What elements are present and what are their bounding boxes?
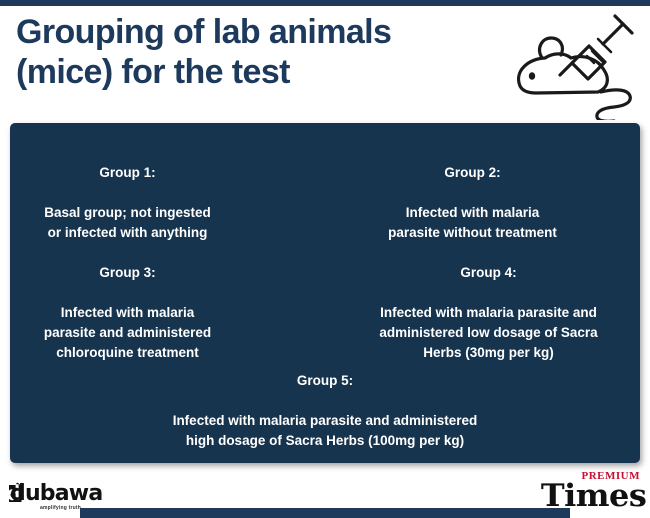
group-4-label: Group 4: (355, 263, 622, 283)
group-5-description: Infected with malaria parasite and admin… (129, 411, 521, 451)
groups-row-2: Group 3: Infected with malaria parasite … (10, 243, 640, 351)
premium-times-logo: PREMIUM Times (534, 468, 646, 514)
group-2-label: Group 2: (365, 163, 580, 183)
group-1-label: Group 1: (20, 163, 235, 183)
group-5-label: Group 5: (129, 371, 521, 391)
dubawa-tagline: amplifying truth (40, 505, 81, 511)
dubawa-logo: dubawa amplifying truth (4, 481, 104, 515)
header: Grouping of lab animals (mice) for the t… (0, 6, 650, 118)
groups-panel: Group 1: Basal group; not ingested or in… (10, 123, 640, 463)
group-3-label: Group 3: (20, 263, 235, 283)
group-2-description: Infected with malaria parasite without t… (365, 203, 580, 243)
group-block-3: Group 3: Infected with malaria parasite … (10, 243, 325, 351)
page-title: Grouping of lab animals (mice) for the t… (16, 12, 516, 92)
footer-accent-bar (80, 508, 570, 518)
group-block-5: Group 5: Infected with malaria parasite … (111, 351, 539, 441)
dubawa-wordmark: dubawa (10, 481, 102, 506)
footer: dubawa amplifying truth PREMIUM Times (0, 463, 650, 518)
premium-times-times-word: Times (541, 478, 646, 514)
mouse-with-syringe-icon (502, 8, 648, 120)
group-block-4: Group 4: Infected with malaria parasite … (325, 243, 640, 351)
group-block-2: Group 2: Infected with malaria parasite … (325, 143, 640, 243)
groups-row-1: Group 1: Basal group; not ingested or in… (10, 143, 640, 243)
group-block-1: Group 1: Basal group; not ingested or in… (10, 143, 325, 243)
group-1-description: Basal group; not ingested or infected wi… (20, 203, 235, 243)
